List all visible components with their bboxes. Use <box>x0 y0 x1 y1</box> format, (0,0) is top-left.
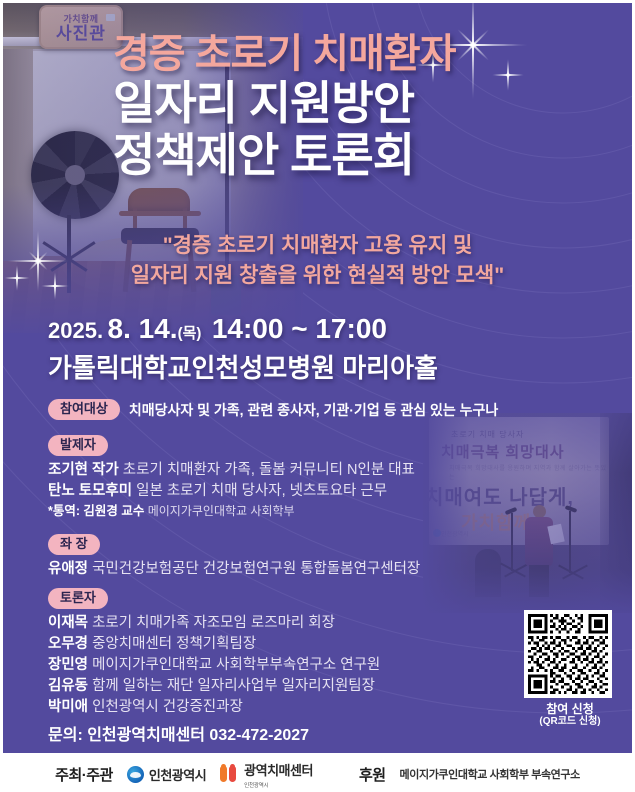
audience-badge: 참여대상 <box>48 399 120 420</box>
panel-name: 이재목 <box>48 615 88 631</box>
presenter-name: 탄노 토모후미 <box>48 483 132 499</box>
event-datetime: 2025. 8. 14.(목) 14:00 ~ 17:00 <box>48 313 387 345</box>
chair-affiliation: 국민건강보험공단 건강보험연구원 통합돌봄연구센터장 <box>92 561 420 577</box>
title-line-3: 정책제안 토론회 <box>113 130 533 182</box>
lecture-photo: 초로기 치매 당사자 치매극복 희망대사 치매극복 희망대사를 응원하며 지역과… <box>423 413 632 613</box>
panel-name: 김유동 <box>48 678 88 694</box>
panel-affiliation: 초로기 치매가족 자조모임 로즈마리 회장 <box>92 615 335 631</box>
audience-text: 치매당사자 및 가족, 관련 종사자, 기관·기업 등 관심 있는 누구나 <box>129 400 498 420</box>
panel-badge: 토론자 <box>48 588 108 609</box>
panel-name: 박미애 <box>48 699 88 715</box>
presenter-item: 조기현 작가 초로기 치매환자 가족, 돌봄 커뮤니티 N인분 대표 <box>48 460 415 481</box>
quote-line-2: 일자리 지원 창출을 위한 현실적 방안 모색" <box>3 261 632 291</box>
event-time: 14:00 ~ 17:00 <box>212 313 387 344</box>
panel-affiliation: 중앙치매센터 정책기획팀장 <box>92 636 256 652</box>
presenter-name: 조기현 작가 <box>48 462 119 478</box>
contact-info: 문의: 인천광역치매센터 032-472-2027 <box>48 721 309 745</box>
qr-code-image[interactable] <box>524 610 612 698</box>
dementia-center-logo-icon <box>220 765 239 783</box>
support-org-label: 메이지가쿠인대학교 사회학부 부속연구소 <box>400 766 580 782</box>
chair-name: 유애정 <box>48 561 88 577</box>
event-day-of-week: (목) <box>178 325 202 342</box>
event-poster: 가치함께 사진관 초로기 치매 당사자 치매극복 희망대사 치매극복 희망대사를… <box>0 0 635 792</box>
support-label: 후원 <box>359 764 386 785</box>
host-org2: 광역치매센터 인천광역시 <box>220 760 313 789</box>
host-org1: 인천광역시 <box>127 765 206 784</box>
qr-caption-line1: 참여 신청 <box>524 702 616 716</box>
panel-affiliation: 인천광역시 건강증진과장 <box>92 699 243 715</box>
poster-title: 경증 초로기 치매환자 일자리 지원방안 정책제안 토론회 <box>113 33 533 181</box>
presenter-affiliation: 일본 초로기 치매 당사자, 넷츠토요타 근무 <box>136 483 387 499</box>
qr-caption-line2: (QR코드 신청) <box>524 716 616 728</box>
panel-item: 장민영 메이지가쿠인대학교 사회학부부속연구소 연구원 <box>48 655 380 676</box>
panel-item: 이재목 초로기 치매가족 자조모임 로즈마리 회장 <box>48 613 380 634</box>
panel-item: 박미애 인천광역시 건강증진과장 <box>48 697 380 718</box>
chair-item: 유애정 국민건강보험공단 건강보험연구원 통합돌봄연구센터장 <box>48 559 420 580</box>
audience-row: 참여대상 치매당사자 및 가족, 관련 종사자, 기관·기업 등 관심 있는 누… <box>48 399 498 420</box>
presenter-item: 탄노 토모후미 일본 초로기 치매 당사자, 넷츠토요타 근무 <box>48 481 415 502</box>
event-year: 2025. <box>48 318 103 343</box>
panel-affiliation: 메이지가쿠인대학교 사회학부부속연구소 연구원 <box>92 657 380 673</box>
host-org2-text: 광역치매센터 인천광역시 <box>244 760 313 789</box>
host-org2-label: 광역치매센터 <box>244 763 313 778</box>
title-line-1: 경증 초로기 치매환자 <box>113 33 533 76</box>
qr-registration[interactable]: 참여 신청 (QR코드 신청) <box>524 610 616 728</box>
panel-name: 장민영 <box>48 657 88 673</box>
event-month-day: 8. 14. <box>108 313 178 344</box>
panel-item: 오무경 중앙치매센터 정책기획팀장 <box>48 634 380 655</box>
panel-item: 김유동 함께 일하는 재단 일자리사업부 일자리지원팀장 <box>48 676 380 697</box>
title-line-2: 일자리 지원방안 <box>113 78 533 130</box>
chair-block: 좌 장 유애정 국민건강보험공단 건강보험연구원 통합돌봄연구센터장 <box>48 534 420 580</box>
presenters-block: 발제자 조기현 작가 초로기 치매환자 가족, 돌봄 커뮤니티 N인분 대표 탄… <box>48 435 415 521</box>
panel-name: 오무경 <box>48 636 88 652</box>
poster-footer: 주최·주관 인천광역시 광역치매센터 인천광역시 후원 메이지가쿠인대학교 사회… <box>0 756 635 792</box>
host-org2-sublabel: 인천광역시 <box>244 781 313 789</box>
event-venue: 가톨릭대학교인천성모병원 마리아홀 <box>48 348 438 385</box>
incheon-logo-icon <box>127 766 144 783</box>
interpreter-name: 김원경 교수 <box>83 504 144 518</box>
presenter-affiliation: 초로기 치매환자 가족, 돌봄 커뮤니티 N인분 대표 <box>123 462 415 478</box>
host-org1-label: 인천광역시 <box>149 765 206 784</box>
panel-affiliation: 함께 일하는 재단 일자리사업부 일자리지원팀장 <box>92 678 375 694</box>
panel-block: 토론자 이재목 초로기 치매가족 자조모임 로즈마리 회장 오무경 중앙치매센터… <box>48 588 380 718</box>
host-label: 주최·주관 <box>55 764 113 785</box>
interpreter-note: *통역: 김원경 교수 메이지가쿠인대학교 사회학부 <box>48 502 415 520</box>
poster-subtitle-quote: "경증 초로기 치매환자 고용 유지 및 일자리 지원 창출을 위한 현실적 방… <box>3 231 632 292</box>
poster-canvas: 가치함께 사진관 초로기 치매 당사자 치매극복 희망대사 치매극복 희망대사를… <box>3 3 632 753</box>
presenters-badge: 발제자 <box>48 435 108 456</box>
interpreter-prefix: *통역: <box>48 504 80 518</box>
interpreter-affiliation: 메이지가쿠인대학교 사회학부 <box>148 504 295 518</box>
quote-line-1: "경증 초로기 치매환자 고용 유지 및 <box>3 231 632 261</box>
chair-badge: 좌 장 <box>48 534 100 555</box>
